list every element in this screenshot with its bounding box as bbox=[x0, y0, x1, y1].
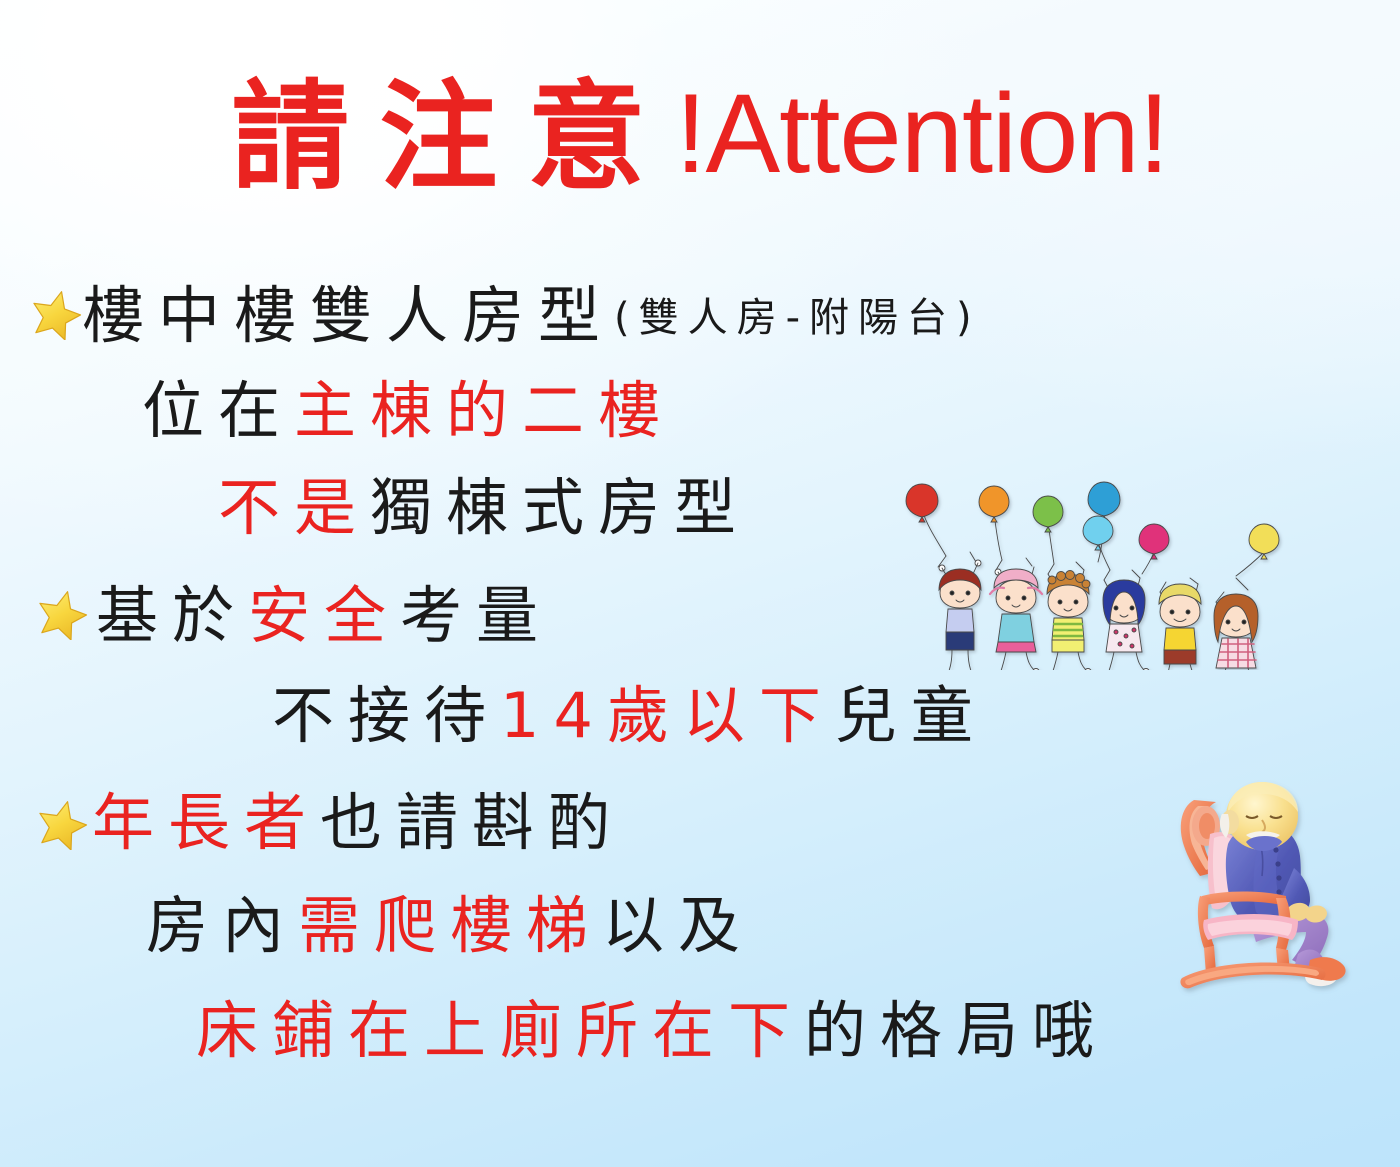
star-icon bbox=[36, 588, 88, 640]
bullet-3-line-3-seg-2: 的格局哦 bbox=[804, 994, 1108, 1067]
title-english: !Attention! bbox=[675, 71, 1168, 196]
bullet-1-line-2: 位在主棟的二樓 bbox=[142, 380, 674, 442]
bullet-1-line-3: 不是獨棟式房型 bbox=[218, 477, 750, 539]
bullet-2-line-2-seg-1: 不接待 bbox=[272, 679, 500, 752]
title-chinese: 請注意 bbox=[231, 68, 675, 206]
bullet-3-line-2-seg-3: 以及 bbox=[602, 889, 754, 962]
bullet-2-line-1-seg-1: 基於 bbox=[96, 579, 248, 652]
children-with-balloons-illustration bbox=[898, 470, 1290, 670]
bullet-1-line-2-seg-2: 主棟的二樓 bbox=[294, 374, 674, 447]
bullet-3-line-3: 床鋪在上廁所在下的格局哦 bbox=[196, 1000, 1108, 1062]
bullet-2-line-1-seg-3: 考量 bbox=[400, 579, 552, 652]
bullet-2-line-1-seg-2: 安全 bbox=[248, 579, 400, 652]
star-icon bbox=[36, 798, 88, 850]
bullet-2-line-1: 基於安全考量 bbox=[96, 585, 552, 647]
attention-poster: 請注意!Attention! bbox=[0, 0, 1400, 1167]
bullet-1-line-3-seg-2: 獨棟式房型 bbox=[370, 471, 750, 544]
bullet-1-line-2-seg-1: 位在 bbox=[142, 374, 294, 447]
star-icon bbox=[30, 288, 82, 340]
bullet-3-line-2-seg-2: 需爬樓梯 bbox=[298, 889, 602, 962]
bullet-3-line-1: 年長者也請斟酌 bbox=[92, 792, 624, 854]
bullet-2-line-2-seg-2: 14歲以下 bbox=[500, 679, 835, 752]
bullet-2-line-2: 不接待14歲以下兒童 bbox=[272, 685, 987, 747]
bullet-1-line-1: 樓中樓雙人房型(雙人房-附陽台) bbox=[82, 285, 981, 347]
bullet-1-line-3-seg-1: 不是 bbox=[218, 471, 370, 544]
poster-title: 請注意!Attention! bbox=[0, 78, 1400, 196]
bullet-3-line-3-seg-1: 床鋪在上廁所在下 bbox=[196, 994, 804, 1067]
bullet-3-line-1-seg-2: 也請斟酌 bbox=[320, 786, 624, 859]
bullet-3-line-2: 房內需爬樓梯以及 bbox=[146, 895, 754, 957]
bullet-3-line-2-seg-1: 房內 bbox=[146, 889, 298, 962]
bullet-2-line-2-seg-3: 兒童 bbox=[835, 679, 987, 752]
bullet-1-line-1-seg-2: (雙人房-附陽台) bbox=[614, 295, 981, 341]
bullet-3-line-1-seg-1: 年長者 bbox=[92, 786, 320, 859]
bullet-1-line-1-seg-1: 樓中樓雙人房型 bbox=[82, 279, 614, 352]
elderly-man-rocking-chair-illustration bbox=[1158, 772, 1388, 1022]
